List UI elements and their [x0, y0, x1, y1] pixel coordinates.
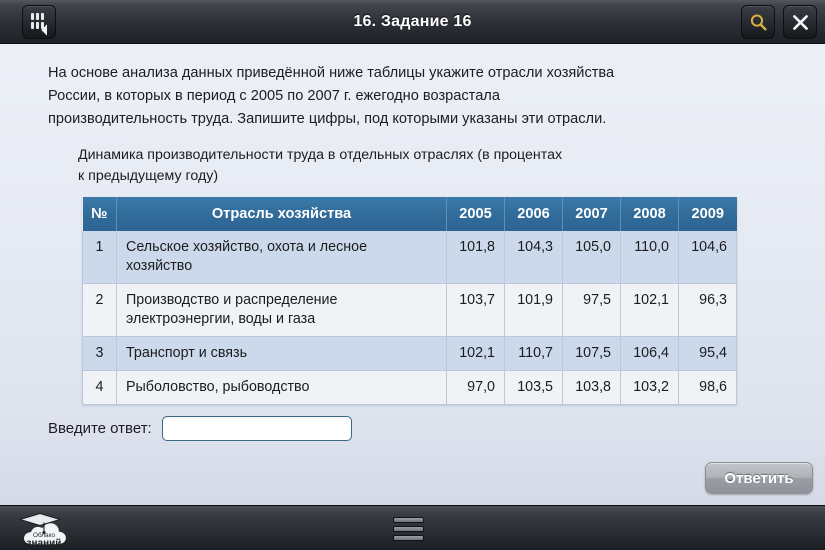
cell-value-2008: 106,4 — [621, 337, 679, 371]
bottom-bar: Облако знаний — [0, 505, 825, 550]
cell-value-2007: 107,5 — [563, 337, 621, 371]
table-row: 1 Сельское хозяйство, охота и лесное хоз… — [83, 231, 737, 284]
cell-value-2007: 105,0 — [563, 231, 621, 284]
question-line-3: производительность труда. Запишите цифры… — [48, 108, 777, 131]
cell-industry: Сельское хозяйство, охота и лесное хозяй… — [117, 231, 447, 284]
answer-label: Введите ответ: — [48, 420, 152, 437]
cell-value-2007: 103,8 — [563, 371, 621, 405]
column-header-2008: 2008 — [621, 197, 679, 231]
data-table: № Отрасль хозяйства 2005 2006 2007 2008 … — [82, 197, 737, 405]
table-grid-button[interactable] — [22, 5, 56, 39]
cell-industry: Рыболовство, рыбоводство — [117, 371, 447, 405]
column-header-industry: Отрасль хозяйства — [117, 197, 447, 231]
close-x-icon — [791, 13, 810, 32]
cell-value-2005: 102,1 — [447, 337, 505, 371]
table-caption: Динамика производительности труда в отде… — [78, 145, 777, 187]
cell-value-2005: 101,8 — [447, 231, 505, 284]
data-table-wrapper: № Отрасль хозяйства 2005 2006 2007 2008 … — [82, 197, 737, 405]
answer-input[interactable] — [162, 416, 352, 441]
app-window: 16. Задание 16 На основе анализа данных … — [0, 0, 825, 550]
brand-line-2: знаний — [27, 538, 62, 548]
cell-value-2008: 102,1 — [621, 284, 679, 337]
title-bar-left-group — [22, 5, 56, 39]
cell-value-2006: 110,7 — [505, 337, 563, 371]
cell-number: 4 — [83, 371, 117, 405]
question-line-2: России, в которых в период с 2005 по 200… — [48, 85, 777, 108]
table-row: 3 Транспорт и связь 102,1 110,7 107,5 10… — [83, 337, 737, 371]
answer-row: Введите ответ: — [48, 416, 352, 441]
cell-industry: Производство и распределение электроэнер… — [117, 284, 447, 337]
table-body: 1 Сельское хозяйство, охота и лесное хоз… — [83, 231, 737, 405]
task-content: На основе анализа данных приведённой ниж… — [0, 44, 825, 505]
cell-number: 3 — [83, 337, 117, 371]
cell-value-2009: 95,4 — [679, 337, 737, 371]
table-header-row: № Отрасль хозяйства 2005 2006 2007 2008 … — [83, 197, 737, 231]
cell-number: 1 — [83, 231, 117, 284]
hamburger-menu-icon[interactable] — [393, 517, 424, 541]
cell-value-2006: 101,9 — [505, 284, 563, 337]
column-header-2006: 2006 — [505, 197, 563, 231]
cell-value-2006: 104,3 — [505, 231, 563, 284]
cell-industry: Транспорт и связь — [117, 337, 447, 371]
brand-logo[interactable]: Облако знаний — [14, 510, 78, 548]
table-row: 2 Производство и распределение электроэн… — [83, 284, 737, 337]
magnifier-icon — [749, 13, 768, 32]
submit-answer-button[interactable]: Ответить — [705, 462, 813, 494]
table-caption-line-2: к предыдущему году) — [78, 166, 777, 187]
cell-value-2008: 103,2 — [621, 371, 679, 405]
cell-value-2009: 96,3 — [679, 284, 737, 337]
column-header-2007: 2007 — [563, 197, 621, 231]
cell-value-2006: 103,5 — [505, 371, 563, 405]
table-header: № Отрасль хозяйства 2005 2006 2007 2008 … — [83, 197, 737, 231]
cell-value-2008: 110,0 — [621, 231, 679, 284]
cell-value-2007: 97,5 — [563, 284, 621, 337]
table-caption-line-1: Динамика производительности труда в отде… — [78, 145, 777, 166]
cell-value-2009: 98,6 — [679, 371, 737, 405]
table-grid-icon — [30, 13, 48, 31]
column-header-2009: 2009 — [679, 197, 737, 231]
search-button[interactable] — [741, 5, 775, 39]
close-button[interactable] — [783, 5, 817, 39]
column-header-number: № — [83, 197, 117, 231]
cloud-graduation-cap-logo-icon: Облако знаний — [14, 510, 78, 548]
title-bar-right-group — [741, 5, 817, 39]
question-line-1: На основе анализа данных приведённой ниж… — [48, 62, 777, 85]
cell-value-2009: 104,6 — [679, 231, 737, 284]
cell-value-2005: 103,7 — [447, 284, 505, 337]
cell-number: 2 — [83, 284, 117, 337]
cell-value-2005: 97,0 — [447, 371, 505, 405]
title-bar: 16. Задание 16 — [0, 0, 825, 44]
question-text: На основе анализа данных приведённой ниж… — [48, 62, 777, 131]
page-title: 16. Задание 16 — [0, 13, 825, 31]
column-header-2005: 2005 — [447, 197, 505, 231]
table-row: 4 Рыболовство, рыбоводство 97,0 103,5 10… — [83, 371, 737, 405]
